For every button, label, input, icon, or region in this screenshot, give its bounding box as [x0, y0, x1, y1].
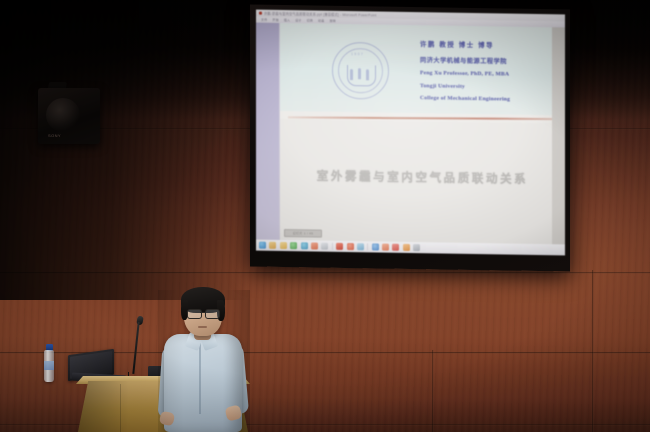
menu-item-home[interactable]: 开始	[272, 18, 278, 22]
emblem-figure	[350, 69, 353, 80]
projected-desktop: 许鹏-雾霾与室内空气品质联动关系.ppt [兼容模式] - Microsoft …	[256, 10, 565, 256]
menu-item-file[interactable]: 文件	[261, 18, 267, 22]
menu-item-insert[interactable]: 插入	[284, 18, 290, 22]
settings-icon[interactable]	[413, 244, 420, 251]
left-wall-shadow	[0, 0, 250, 300]
browser-icon[interactable]	[259, 242, 266, 249]
slide-lower-band: 室外雾霾与室内空气品质联动关系	[280, 119, 565, 244]
qq-icon[interactable]	[311, 242, 318, 249]
lecture-hall-photo: SONY 许鹏-雾霾与室内空气品质联动关系.ppt [兼容模式] - Micro…	[0, 0, 650, 432]
emblem-year-text: 1907	[351, 52, 364, 56]
slide-canvas[interactable]: 1907 许鹏 教授 博士 博导 同济大学机械与能源工程学院 Peng Xu P…	[280, 23, 565, 244]
powerpoint-workarea: 1907 许鹏 教授 博士 博导 同济大学机械与能源工程学院 Peng Xu P…	[256, 23, 565, 245]
slide-author-block: 许鹏 教授 博士 博导 同济大学机械与能源工程学院 Peng Xu Profes…	[420, 39, 555, 110]
taskbar-separator	[367, 243, 368, 250]
author-univ-en: Tongji University	[420, 83, 555, 91]
folder-icon[interactable]	[280, 242, 287, 249]
menu-item-transitions[interactable]: 切换	[307, 18, 313, 22]
chrome-icon[interactable]	[290, 242, 297, 249]
antivirus-icon[interactable]	[382, 244, 389, 251]
water-bottle	[44, 350, 54, 382]
slide-status-indicator[interactable]: 幻灯片 1 / 45	[284, 229, 322, 238]
projection-screen-frame: 许鹏-雾霾与室内空气品质联动关系.ppt [兼容模式] - Microsoft …	[250, 4, 570, 271]
emblem-figure	[366, 69, 369, 80]
slide-right-gutter	[552, 27, 565, 244]
lectern-edge	[120, 384, 121, 432]
pdf-reader-icon[interactable]	[336, 243, 343, 250]
menu-item-design[interactable]: 设计	[295, 18, 301, 22]
author-school-cn: 同济大学机械与能源工程学院	[420, 55, 555, 66]
app-logo-icon	[259, 12, 262, 15]
music-icon[interactable]	[392, 244, 399, 251]
author-name-en: Peng Xu Professor, PhD, PE, MBA	[420, 70, 555, 78]
eyeglasses-bridge	[200, 312, 205, 313]
notepad-icon[interactable]	[321, 243, 328, 250]
menu-item-animations[interactable]: 动画	[318, 19, 324, 23]
wall-seam-vertical	[592, 270, 594, 432]
download-icon[interactable]	[403, 244, 410, 251]
emblem-figure	[358, 68, 361, 79]
presenter-mouth	[198, 326, 207, 328]
tongji-university-emblem-icon: 1907	[332, 42, 389, 100]
ie-icon[interactable]	[372, 243, 379, 250]
shirt-placket	[199, 342, 201, 414]
weixin-icon[interactable]	[357, 243, 364, 250]
speaker-cone-icon	[46, 98, 80, 132]
author-name-cn: 许鹏 教授 博士 博导	[420, 39, 555, 50]
wall-seam-vertical	[432, 350, 434, 432]
eyeglasses-left-lens-icon	[187, 309, 202, 319]
author-college-en: College of Mechanical Engineering	[420, 95, 555, 103]
slide-thumbnail-pane[interactable]	[256, 23, 280, 240]
wall-speaker: SONY	[38, 88, 100, 144]
speaker-brand-label: SONY	[48, 133, 61, 138]
presenter	[158, 290, 250, 432]
media-player-icon[interactable]	[301, 242, 308, 249]
mail-icon[interactable]	[269, 242, 276, 249]
slide-main-title: 室外雾霾与室内空气品质联动关系	[280, 167, 565, 187]
taskbar-separator	[332, 243, 333, 250]
menu-item-slideshow[interactable]: 放映	[329, 19, 335, 23]
bottle-label	[44, 361, 54, 370]
eyeglasses-right-lens-icon	[205, 309, 220, 319]
360-browser-icon[interactable]	[347, 243, 354, 250]
